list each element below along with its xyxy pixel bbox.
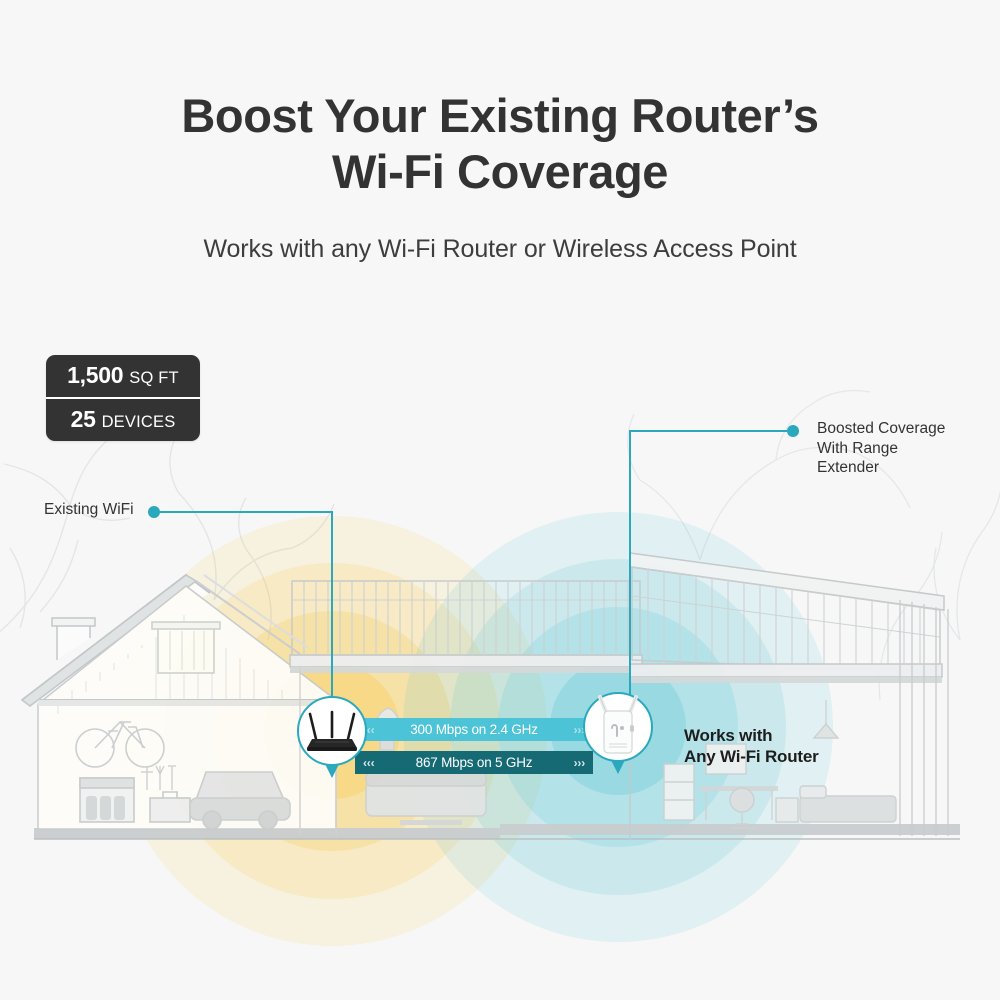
connector-dot-existing-wifi: [148, 506, 160, 518]
infographic-stage: Boost Your Existing Router’s Wi-Fi Cover…: [0, 0, 1000, 1000]
spec-value-area: 1,500: [67, 362, 123, 389]
spec-unit-devices: DEVICES: [102, 413, 176, 432]
callout-existing-wifi: Existing WiFi: [44, 500, 134, 520]
speed-bar-2-4ghz: ‹‹‹ 300 Mbps on 2.4 GHz ›››: [355, 718, 593, 741]
router-icon: [303, 709, 361, 753]
speed-bar-label-5ghz: 867 Mbps on 5 GHz: [374, 755, 573, 770]
headline-line-2: Wi-Fi Coverage: [0, 144, 1000, 200]
spec-value-devices: 25: [71, 406, 96, 433]
speed-bar-5ghz: ‹‹‹ 867 Mbps on 5 GHz ›››: [355, 751, 593, 774]
device-pin-extender: [583, 692, 653, 762]
header-block: Boost Your Existing Router’s Wi-Fi Cover…: [0, 88, 1000, 265]
spec-row-area: 1,500 SQ FT: [46, 355, 200, 397]
callout-existing-wifi-label: Existing WiFi: [44, 500, 134, 520]
callout-boosted-coverage-label: Boosted Coverage With Range Extender: [817, 419, 945, 478]
spec-row-devices: 25 DEVICES: [46, 397, 200, 441]
page-title: Boost Your Existing Router’s Wi-Fi Cover…: [0, 88, 1000, 200]
car-icon: [190, 772, 290, 829]
page-subtitle: Works with any Wi-Fi Router or Wireless …: [0, 233, 1000, 265]
speed-bars: ‹‹‹ 300 Mbps on 2.4 GHz ››› ‹‹‹ 867 Mbps…: [355, 718, 593, 774]
spec-badge: 1,500 SQ FT 25 DEVICES: [46, 355, 200, 441]
headline-line-1: Boost Your Existing Router’s: [0, 88, 1000, 144]
range-extender-icon: [592, 695, 644, 759]
speed-bar-label-2-4ghz: 300 Mbps on 2.4 GHz: [374, 722, 573, 737]
connector-dot-boosted-coverage: [787, 425, 799, 437]
pin-circle-extender: [583, 692, 653, 762]
pin-circle-router: [297, 696, 367, 766]
callout-boosted-coverage: Boosted Coverage With Range Extender: [817, 419, 945, 478]
works-with-label: Works with Any Wi-Fi Router: [684, 725, 819, 767]
spec-unit-area: SQ FT: [129, 369, 179, 388]
device-pin-router: [297, 696, 367, 766]
